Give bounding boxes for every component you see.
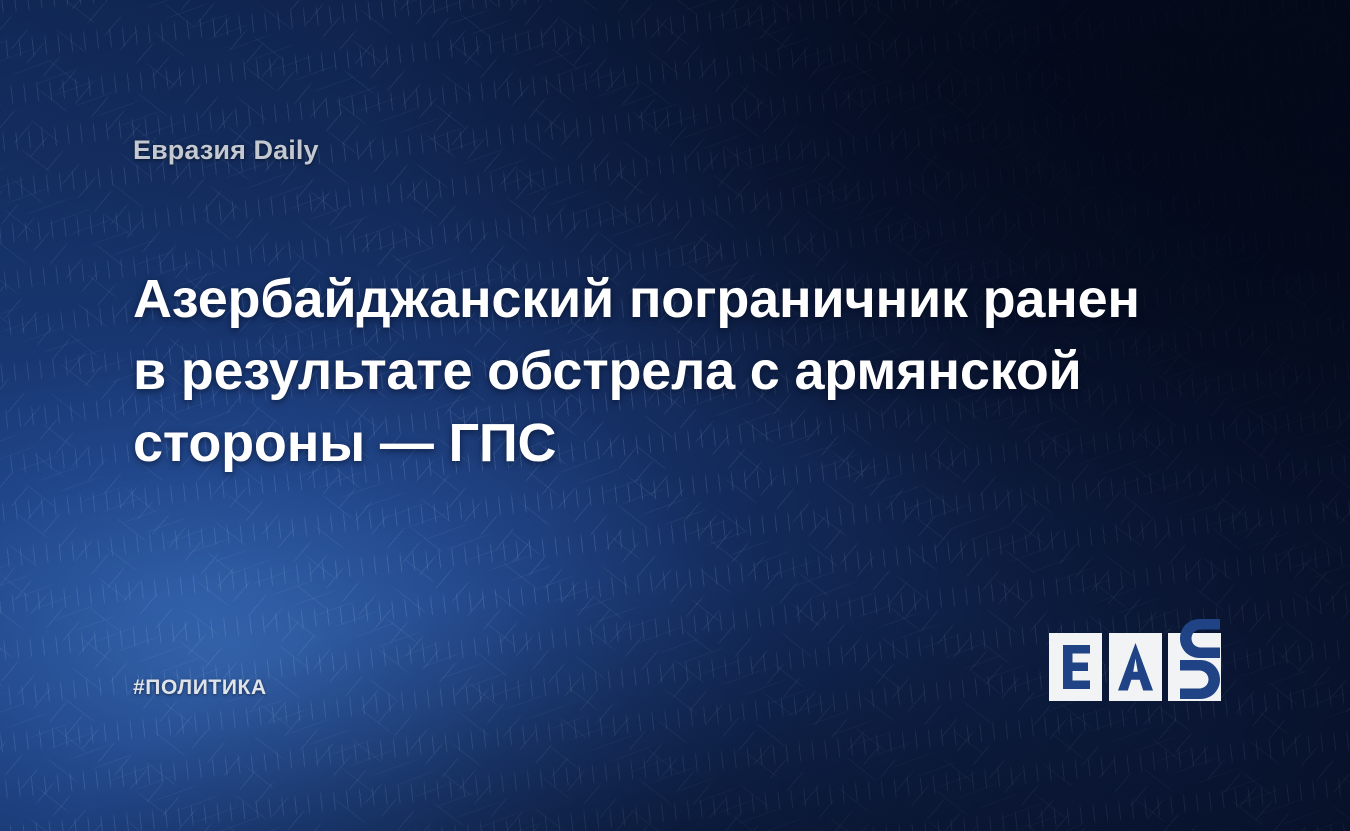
ead-logo: [1049, 633, 1234, 701]
category-tag[interactable]: #ПОЛИТИКА: [133, 676, 267, 700]
letter-a-icon: [1109, 633, 1162, 701]
headline-line-3: стороны — ГПС: [133, 407, 1153, 479]
logo-tile-e: [1049, 633, 1102, 701]
brand-wordmark: Евразия Daily: [133, 135, 319, 166]
headline-line-1: Азербайджанский пограничник ранен: [133, 263, 1153, 335]
news-card: Евразия Daily Азербайджанский погранични…: [0, 0, 1350, 831]
letter-d-split-icon: [1168, 617, 1234, 701]
letter-d-split-glyph: [1168, 617, 1234, 701]
card-content: Евразия Daily Азербайджанский погранични…: [0, 0, 1350, 831]
page-title: Азербайджанский пограничник ранен в резу…: [133, 263, 1153, 479]
logo-tile-a: [1109, 633, 1162, 701]
headline-line-2: в результате обстрела с армянской: [133, 335, 1153, 407]
letter-e-icon: [1049, 633, 1102, 701]
